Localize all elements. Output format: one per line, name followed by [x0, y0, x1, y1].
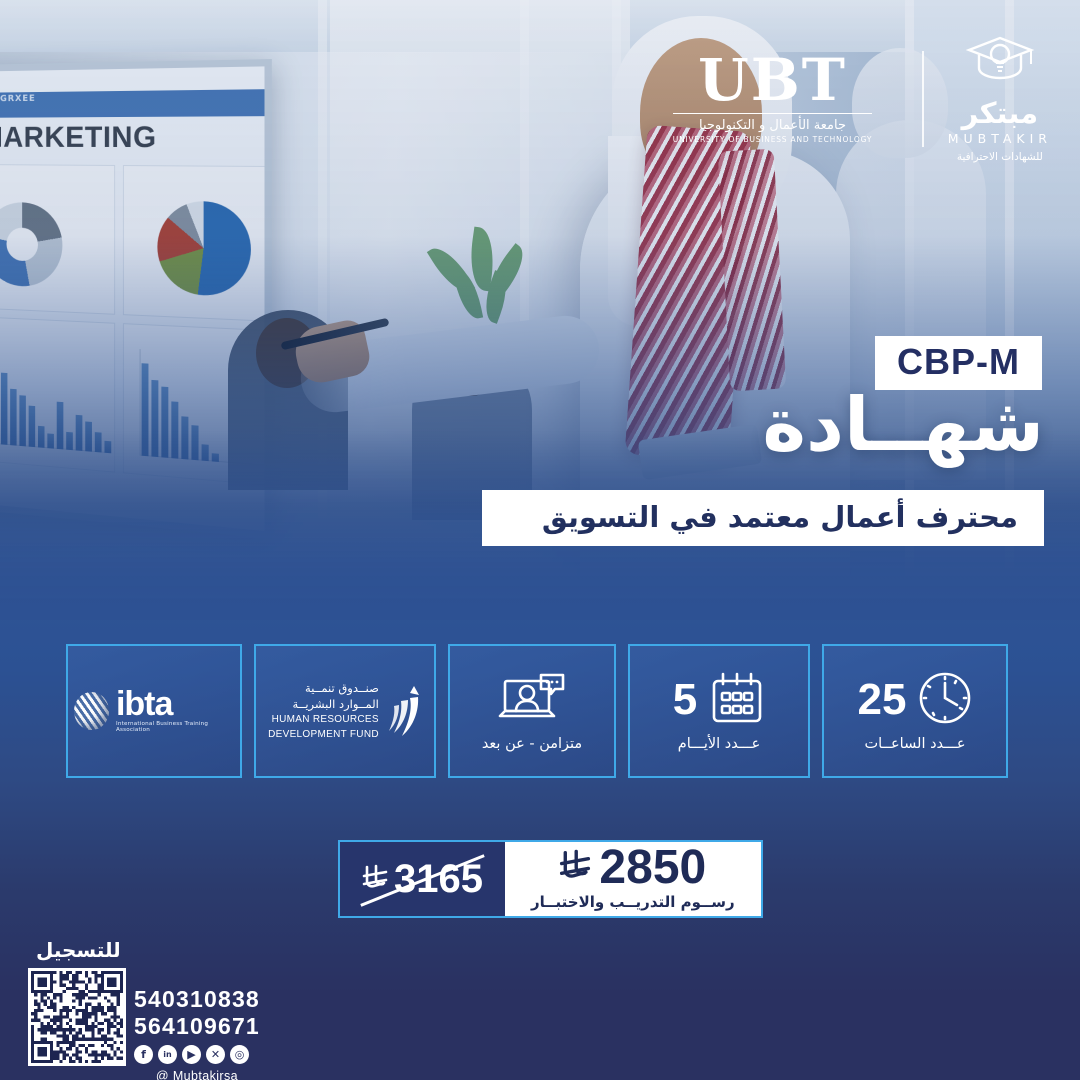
graduation-cap-lightbulb-icon	[963, 75, 1037, 94]
laptop-webinar-icon	[497, 671, 567, 729]
mubtakir-tagline: للشهادات الاحترافية	[948, 151, 1052, 163]
new-price: 2850	[559, 844, 706, 892]
social-icons-row: fin▶✕◎	[134, 1045, 260, 1064]
saudi-riyal-icon	[362, 857, 388, 902]
phone-number-2[interactable]: 564109671	[134, 1013, 260, 1040]
certificate-subtitle: محترف أعمال معتمد في التسويق	[482, 490, 1044, 546]
hrdf-wing-icon	[388, 686, 422, 736]
ibta-wordmark: ibta	[116, 689, 234, 720]
mubtakir-arabic: مبتكر	[948, 96, 1052, 130]
page-title: شهــادة	[762, 382, 1044, 468]
instagram-icon[interactable]: ◎	[230, 1045, 249, 1064]
days-caption: عـــدد الأيـــام	[678, 736, 761, 752]
badge-hrdf: صنــدوق تنمــية المــوارد البشريــة HUMA…	[254, 644, 436, 778]
old-price-value: 3165	[394, 857, 483, 902]
ibta-full-name: International Business Training Associat…	[116, 721, 234, 733]
badge-delivery-mode: متزامن - عن بعد	[448, 644, 616, 778]
hrdf-english-line1: HUMAN RESOURCES	[268, 714, 379, 727]
badge-days: 5 عـــدد الأيـــام	[628, 644, 810, 778]
poster-canvas: AGRXEE MARKETING	[0, 0, 1080, 1080]
old-price: 3165	[362, 857, 483, 902]
hours-value: 25	[858, 678, 907, 722]
old-price-container: 3165	[340, 842, 505, 916]
youtube-icon[interactable]: ▶	[182, 1045, 201, 1064]
calendar-icon	[709, 671, 765, 729]
price-block: 3165 2850 رســوم التدريــب والاختبــار	[338, 840, 763, 918]
ubt-arabic-name: جامعة الأعمال و التكنولوجيا	[673, 118, 872, 133]
contact-block: 540310838 564109671 fin▶✕◎ @ Mubtakirsa	[134, 986, 260, 1080]
qr-code-image	[31, 971, 123, 1063]
x-twitter-icon[interactable]: ✕	[206, 1045, 225, 1064]
social-handle: @ Mubtakirsa	[134, 1069, 260, 1080]
badge-ibta: ibta International Business Training Ass…	[66, 644, 242, 778]
hrdf-arabic-line1: صنــدوق تنمــية	[268, 681, 379, 697]
mubtakir-english: MUBTAKIR	[948, 131, 1052, 146]
ubt-logo: UBT جامعة الأعمال و التكنولوجيا UNIVERSI…	[673, 53, 898, 145]
days-value: 5	[673, 678, 697, 722]
new-price-value: 2850	[599, 844, 706, 892]
saudi-riyal-icon	[559, 844, 591, 892]
ubt-english-name: UNIVERSITY OF BUSINESS AND TECHNOLOGY	[673, 135, 872, 144]
mubtakir-logo: مبتكر MUBTAKIR للشهادات الاحترافية	[948, 34, 1052, 163]
globe-icon	[74, 692, 109, 730]
hrdf-english-line2: DEVELOPMENT FUND	[268, 729, 379, 742]
ubt-wordmark: UBT	[673, 53, 872, 108]
hours-caption: عـــدد الساعــات	[864, 736, 965, 752]
phone-number-1[interactable]: 540310838	[134, 986, 260, 1013]
delivery-mode-caption: متزامن - عن بعد	[482, 736, 582, 752]
logo-row: UBT جامعة الأعمال و التكنولوجيا UNIVERSI…	[673, 34, 1052, 163]
clock-icon	[918, 671, 972, 729]
logo-divider	[922, 51, 924, 147]
register-label: للتسجيل	[36, 938, 121, 962]
price-caption: رســوم التدريــب والاختبــار	[531, 893, 735, 911]
linkedin-icon[interactable]: in	[158, 1045, 177, 1064]
new-price-container: 2850 رســوم التدريــب والاختبــار	[505, 842, 761, 916]
qr-code[interactable]	[28, 968, 126, 1066]
hrdf-arabic-line2: المــوارد البشريــة	[268, 697, 379, 713]
facebook-icon[interactable]: f	[134, 1045, 153, 1064]
info-badges-row: ibta International Business Training Ass…	[66, 644, 1014, 778]
badge-hours: 25 عـــدد الساعــات	[822, 644, 1008, 778]
